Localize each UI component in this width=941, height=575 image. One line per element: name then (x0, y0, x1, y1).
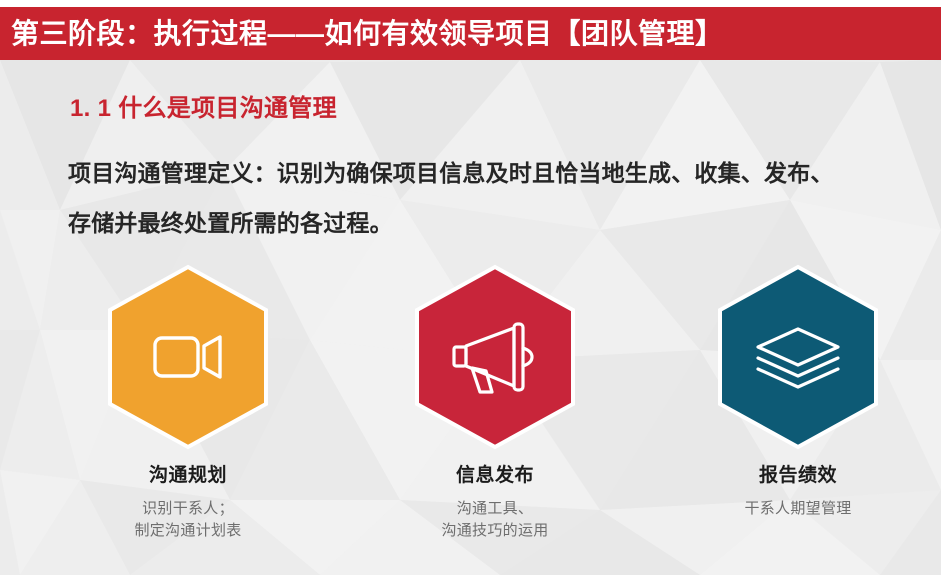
definition-line-1: 项目沟通管理定义：识别为确保项目信息及时且恰当地生成、收集、发布、 (68, 148, 928, 198)
definition-paragraph: 项目沟通管理定义：识别为确保项目信息及时且恰当地生成、收集、发布、 存储并最终处… (68, 148, 928, 248)
hexagon-shape-teal (713, 262, 883, 452)
hexagon-card-information-distribution[interactable]: 信息发布 沟通工具、 沟通技巧的运用 (365, 262, 625, 542)
hexagon-sublabel-1-line-2: 制定沟通计划表 (58, 520, 318, 542)
page-title: 第三阶段：执行过程——如何有效领导项目【团队管理】 (0, 20, 724, 48)
hexagon-label-2: 信息发布 (365, 466, 625, 487)
section-heading: 1. 1 什么是项目沟通管理 (70, 88, 337, 123)
hexagon-shape-orange (103, 262, 273, 452)
slide-title-bar: 第三阶段：执行过程——如何有效领导项目【团队管理】 (0, 7, 941, 60)
hexagon-sublabel-1: 识别干系人； 制定沟通计划表 (58, 498, 318, 542)
hexagon-label-1: 沟通规划 (58, 466, 318, 487)
hexagon-card-communication-planning[interactable]: 沟通规划 识别干系人； 制定沟通计划表 (58, 262, 318, 542)
slide-canvas: 第三阶段：执行过程——如何有效领导项目【团队管理】 1. 1 什么是项目沟通管理… (0, 0, 941, 575)
hexagon-sublabel-1-line-1: 识别干系人； (58, 498, 318, 520)
hexagon-sublabel-2-line-1: 沟通工具、 (365, 498, 625, 520)
hexagon-label-3: 报告绩效 (668, 466, 928, 487)
hexagon-sublabel-3: 干系人期望管理 (668, 498, 928, 520)
hexagon-row: 沟通规划 识别干系人； 制定沟通计划表 (0, 262, 941, 575)
top-white-strip (0, 0, 941, 7)
hexagon-card-performance-reporting[interactable]: 报告绩效 干系人期望管理 (668, 262, 928, 520)
hexagon-sublabel-3-line-1: 干系人期望管理 (668, 498, 928, 520)
hexagon-shape-red (410, 262, 580, 452)
hexagon-sublabel-2-line-2: 沟通技巧的运用 (365, 520, 625, 542)
definition-line-2: 存储并最终处置所需的各过程。 (68, 198, 928, 248)
hexagon-sublabel-2: 沟通工具、 沟通技巧的运用 (365, 498, 625, 542)
